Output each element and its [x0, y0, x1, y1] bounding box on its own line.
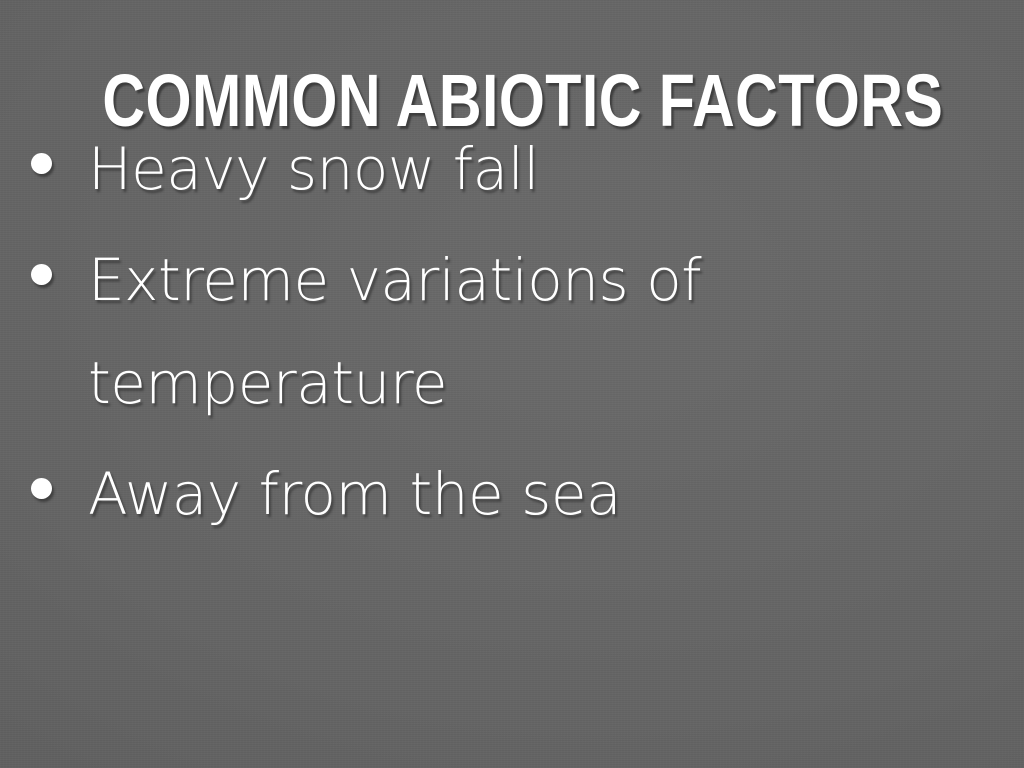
presentation-slide: COMMON ABIOTIC FACTORS Heavy snow fall E…: [0, 0, 1024, 768]
bullet-dot-icon: [31, 478, 52, 499]
list-item: Away from the sea: [24, 443, 964, 546]
bullet-dot-icon: [31, 264, 52, 285]
list-item: Heavy snow fall: [24, 118, 964, 221]
bullet-text: Heavy snow fall: [88, 118, 788, 221]
bullet-list: Heavy snow fall Extreme variations of te…: [24, 118, 964, 554]
bullet-text: Extreme variations of temperature: [88, 229, 778, 435]
bullet-text: Away from the sea: [88, 443, 788, 546]
list-item: Extreme variations of temperature: [24, 229, 964, 435]
bullet-dot-icon: [31, 153, 52, 174]
